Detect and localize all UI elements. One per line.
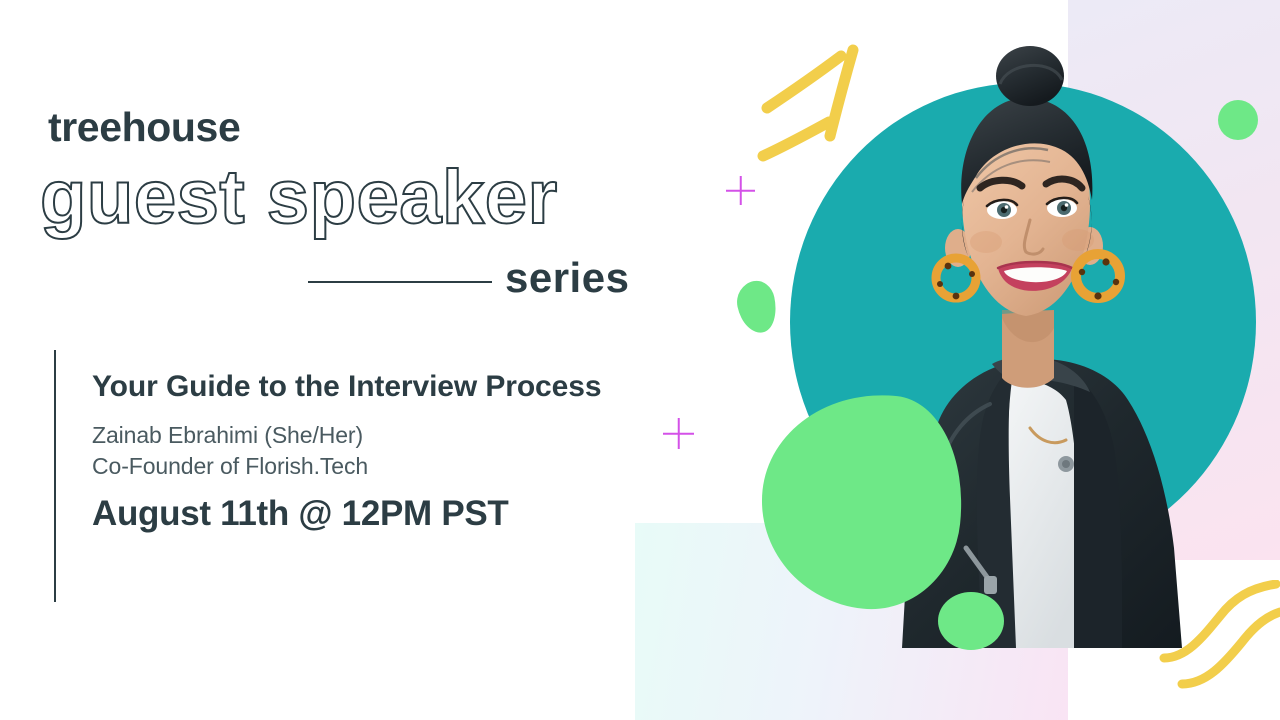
series-word: series <box>505 257 629 299</box>
vertical-accent-bar <box>54 350 56 602</box>
speaker-name: Zainab Ebrahimi (She/Her) <box>92 420 612 450</box>
plus-mark-lower-icon <box>663 418 694 449</box>
green-circle-bottom <box>938 592 1004 650</box>
green-blob-small <box>733 278 781 337</box>
series-divider-rule <box>308 281 492 283</box>
event-detail-block: Your Guide to the Interview Process Zain… <box>92 367 612 534</box>
headline-outline-text: guest speaker <box>40 160 558 236</box>
speaker-role: Co-Founder of Florish.Tech <box>92 451 612 481</box>
sparkle-strokes-icon <box>745 30 905 190</box>
promo-poster: treehouse guest speaker series Your Guid… <box>0 0 1280 720</box>
talk-title: Your Guide to the Interview Process <box>92 367 612 406</box>
plus-mark-upper-icon <box>726 176 755 205</box>
corner-squiggles-icon <box>1150 580 1280 720</box>
event-datetime: August 11th @ 12PM PST <box>92 495 612 534</box>
brand-wordmark: treehouse <box>48 107 240 148</box>
